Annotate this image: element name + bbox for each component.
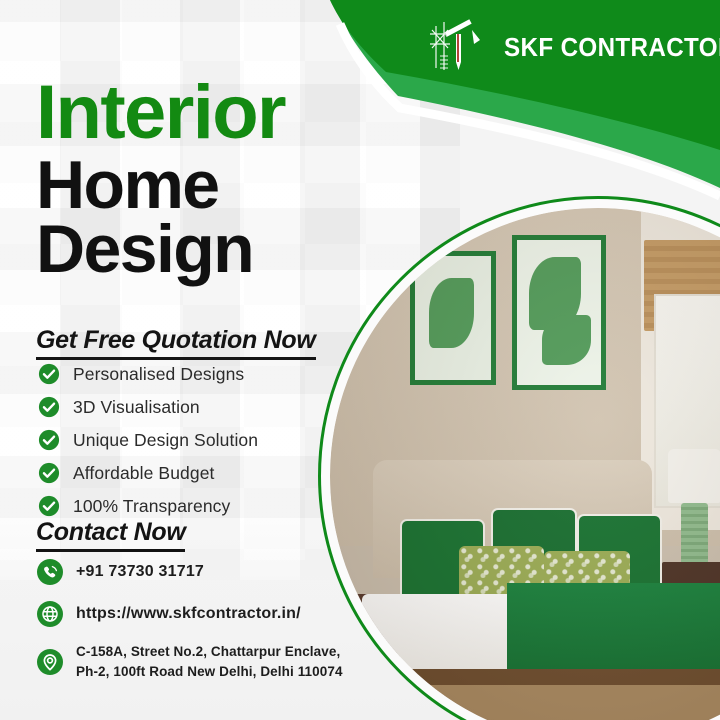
feature-label: Unique Design Solution [73,430,258,451]
feature-label: Personalised Designs [73,364,244,385]
feature-list: Personalised Designs 3D Visualisation Un… [38,363,258,517]
drafting-pencil-ruler-icon [428,18,494,76]
check-circle-icon [38,363,60,385]
poster-canvas: SKF CONTRACTOR Interior Home Design Get … [0,0,720,720]
globe-icon [36,600,64,628]
feature-label: Affordable Budget [73,463,215,484]
location-pin-icon [36,648,64,676]
contact-phone-row[interactable]: +91 73730 31717 [36,558,343,586]
check-circle-icon [38,396,60,418]
list-item: Personalised Designs [38,363,258,385]
quotation-heading: Get Free Quotation Now [36,326,316,360]
check-circle-icon [38,462,60,484]
list-item: Unique Design Solution [38,429,258,451]
contact-heading: Contact Now [36,518,185,552]
contact-website-row[interactable]: https://www.skfcontractor.in/ [36,600,343,628]
contact-list: +91 73730 31717 https://www.skfcontracto… [36,558,343,681]
brand-name: SKF CONTRACTOR [504,32,720,63]
address-line-2: Ph-2, 100ft Road New Delhi, Delhi 110074 [76,662,343,682]
list-item: Affordable Budget [38,462,258,484]
feature-label: 3D Visualisation [73,397,200,418]
list-item: 3D Visualisation [38,396,258,418]
feature-label: 100% Transparency [73,496,230,517]
headline-line-3: Design [36,218,285,281]
check-circle-icon [38,495,60,517]
headline-line-1: Interior [36,78,285,148]
list-item: 100% Transparency [38,495,258,517]
headline-block: Interior Home Design [36,78,285,281]
address-line-1: C-158A, Street No.2, Chattarpur Enclave, [76,642,343,662]
phone-number: +91 73730 31717 [76,563,204,581]
website-url: https://www.skfcontractor.in/ [76,605,301,623]
headline-line-2: Home [36,154,285,217]
brand-logo[interactable]: SKF CONTRACTOR [428,18,720,76]
check-circle-icon [38,429,60,451]
phone-icon [36,558,64,586]
hero-photo-circle [318,196,720,720]
contact-address-row[interactable]: C-158A, Street No.2, Chattarpur Enclave,… [36,642,343,681]
address-block: C-158A, Street No.2, Chattarpur Enclave,… [76,642,343,681]
